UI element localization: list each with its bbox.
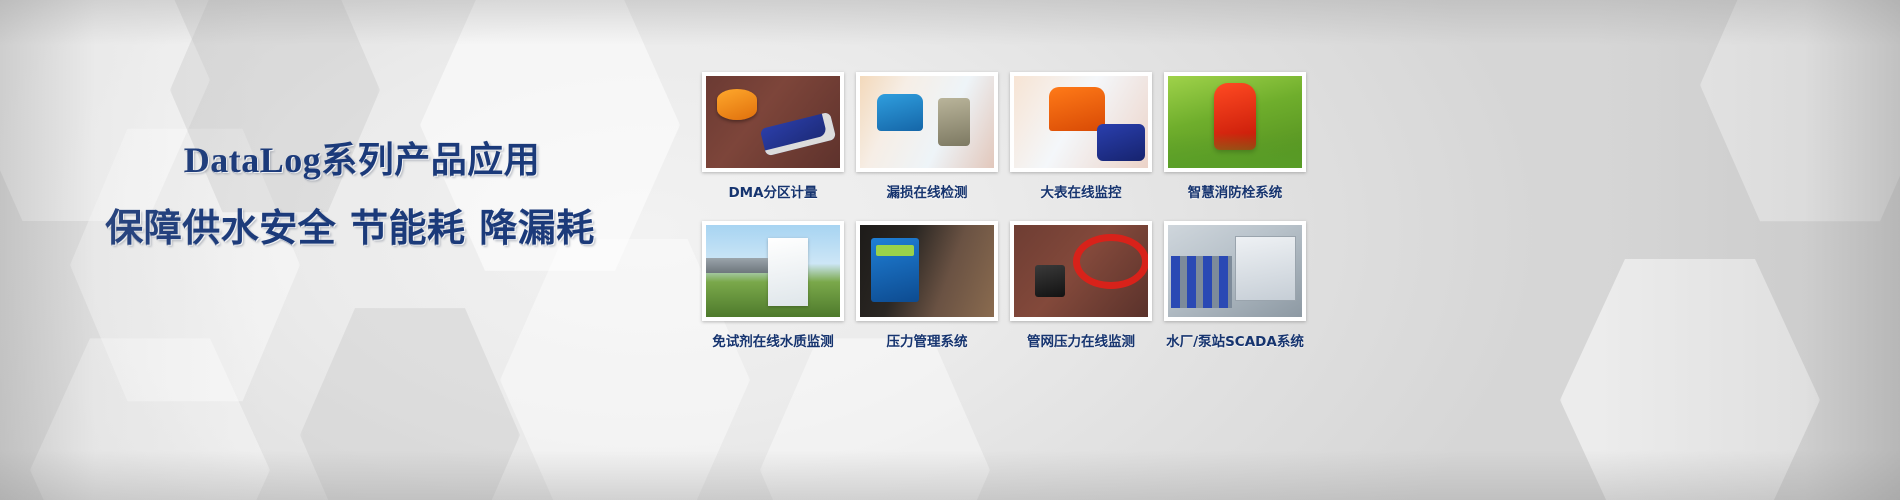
smart-fire-hydrant-photo (1168, 76, 1302, 168)
product-caption: 免试剂在线水质监测 (712, 330, 834, 350)
hexagon-watermark (760, 330, 990, 500)
product-card-leak-detection[interactable]: 漏损在线检测 (856, 72, 998, 201)
product-application-banner: DataLog系列产品应用 保障供水安全 节能耗 降漏耗 DMA分区计量 漏损在… (0, 0, 1900, 500)
product-card-dma-metering[interactable]: DMA分区计量 (702, 72, 844, 201)
leak-online-detection-photo (860, 76, 994, 168)
product-thumbnail[interactable] (856, 72, 998, 172)
product-caption: 压力管理系统 (887, 330, 968, 350)
headline-line-2: 保障供水安全 节能耗 降漏耗 (10, 205, 690, 251)
product-caption: 管网压力在线监测 (1027, 330, 1135, 350)
headline-block: DataLog系列产品应用 保障供水安全 节能耗 降漏耗 (0, 138, 690, 251)
product-caption: DMA分区计量 (728, 181, 817, 201)
waterworks-pump-scada-photo (1168, 225, 1302, 317)
large-meter-monitoring-photo (1014, 76, 1148, 168)
product-card-pressure-management[interactable]: 压力管理系统 (856, 221, 998, 350)
product-card-network-pressure[interactable]: 管网压力在线监测 (1010, 221, 1152, 350)
headline-cjk: 系列产品应用 (321, 140, 540, 181)
product-thumbnail[interactable] (1164, 72, 1306, 172)
product-card-water-quality[interactable]: 免试剂在线水质监测 (702, 221, 844, 350)
product-grid: DMA分区计量 漏损在线检测 大表在线监控 智慧消防栓系统 免试剂在线水质监测 … (702, 72, 1306, 350)
product-card-smart-hydrant[interactable]: 智慧消防栓系统 (1164, 72, 1306, 201)
product-thumbnail[interactable] (702, 221, 844, 321)
hexagon-watermark (300, 300, 520, 500)
product-thumbnail[interactable] (856, 221, 998, 321)
reagent-free-water-quality-photo (706, 225, 840, 317)
product-card-large-meter[interactable]: 大表在线监控 (1010, 72, 1152, 201)
pipe-network-pressure-photo (1014, 225, 1148, 317)
product-caption: 漏损在线检测 (887, 181, 968, 201)
hexagon-watermark (1700, 0, 1900, 230)
headline-latin: DataLog (184, 140, 322, 180)
product-thumbnail[interactable] (702, 72, 844, 172)
hexagon-watermark (30, 330, 270, 500)
product-caption: 水厂/泵站SCADA系统 (1166, 330, 1304, 350)
product-caption: 智慧消防栓系统 (1188, 181, 1283, 201)
product-thumbnail[interactable] (1164, 221, 1306, 321)
pressure-management-photo (860, 225, 994, 317)
product-thumbnail[interactable] (1010, 221, 1152, 321)
headline-line-1: DataLog系列产品应用 (34, 138, 690, 183)
product-caption: 大表在线监控 (1041, 181, 1122, 201)
dma-zone-metering-photo (706, 76, 840, 168)
hexagon-watermark (1560, 250, 1820, 500)
product-card-scada[interactable]: 水厂/泵站SCADA系统 (1164, 221, 1306, 350)
product-thumbnail[interactable] (1010, 72, 1152, 172)
